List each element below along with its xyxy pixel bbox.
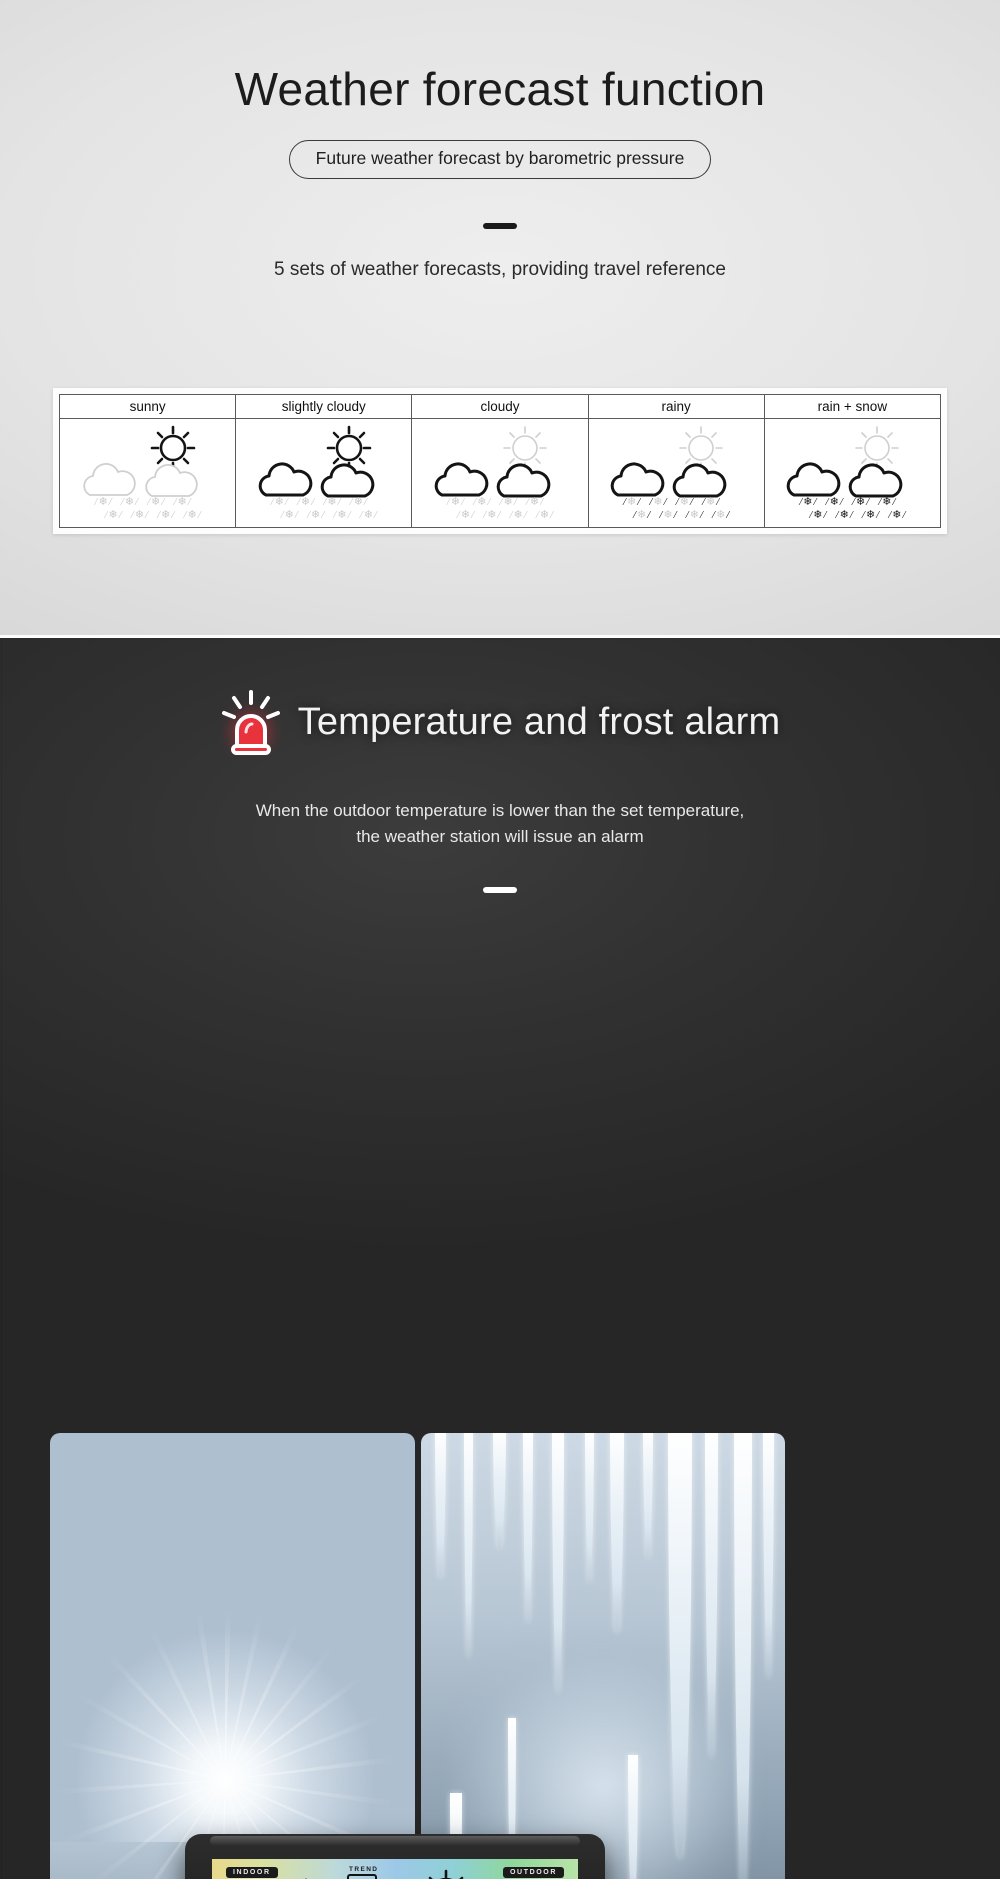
weather-icon-table-shell: sunny slightly cloudy cloudy rainy rain … bbox=[53, 388, 947, 534]
rain-dash-icon: / bbox=[664, 497, 667, 508]
subtitle-pill: Future weather forecast by barometric pr… bbox=[289, 140, 712, 179]
rain-dash-icon: / bbox=[690, 497, 693, 508]
icicle bbox=[628, 1755, 638, 1879]
table-header-row: sunny slightly cloudy cloudy rainy rain … bbox=[60, 395, 941, 419]
rain-dash-icon: / bbox=[550, 510, 553, 521]
precip-row: /❄//❄//❄//❄/ bbox=[271, 510, 377, 521]
precip-group: /❄/ bbox=[536, 510, 553, 521]
alarm-body: When the outdoor temperature is lower th… bbox=[0, 798, 1000, 849]
precip-group: /❄/ bbox=[157, 510, 174, 521]
lcd-main-area: INDOOR 26 .9 °C 60 % TREND bbox=[212, 1859, 578, 1879]
precipitation-icon: /❄//❄//❄//❄//❄//❄//❄//❄/ bbox=[94, 497, 200, 521]
photo-icicles bbox=[421, 1433, 786, 1879]
precip-group: /❄/ bbox=[121, 497, 138, 508]
rain-dash-icon: / bbox=[171, 510, 174, 521]
rain-dash-icon: / bbox=[131, 510, 134, 521]
snowflake-icon: ❄ bbox=[364, 510, 373, 521]
precip-group: /❄/ bbox=[297, 497, 314, 508]
precip-group: /❄/ bbox=[878, 497, 895, 508]
snowflake-icon: ❄ bbox=[813, 510, 822, 521]
snowflake-icon: ❄ bbox=[135, 510, 144, 521]
precip-row: /❄//❄//❄//❄/ bbox=[447, 497, 553, 508]
snowflake-icon: ❄ bbox=[487, 510, 496, 521]
snowflake-icon: ❄ bbox=[803, 497, 812, 508]
rain-dash-icon: / bbox=[540, 497, 543, 508]
rain-dash-icon: / bbox=[350, 497, 353, 508]
snowflake-icon: ❄ bbox=[178, 497, 187, 508]
precip-group: /❄/ bbox=[147, 497, 164, 508]
rain-dash-icon: / bbox=[311, 497, 314, 508]
weather-cell-slightly-cloudy: /❄//❄//❄//❄//❄//❄//❄//❄/ bbox=[236, 419, 412, 528]
rain-dash-icon: / bbox=[285, 497, 288, 508]
rain-dash-icon: / bbox=[813, 497, 816, 508]
precip-row: /❄//❄//❄//❄/ bbox=[271, 497, 377, 508]
snowflake-icon: ❄ bbox=[477, 497, 486, 508]
precip-group: /❄/ bbox=[281, 510, 298, 521]
rain-dash-icon: / bbox=[360, 510, 363, 521]
icicle bbox=[493, 1433, 506, 1549]
precip-group: /❄/ bbox=[131, 510, 148, 521]
rain-dash-icon: / bbox=[457, 510, 460, 521]
lcd-weather-picto-icon bbox=[380, 1867, 520, 1879]
col-header-rain-snow: rain + snow bbox=[764, 395, 940, 419]
trend-icon bbox=[347, 1874, 377, 1879]
precip-group: /❄/ bbox=[862, 510, 879, 521]
rain-dash-icon: / bbox=[676, 497, 679, 508]
col-header-sunny: sunny bbox=[60, 395, 236, 419]
alarm-section: Temperature and frost alarm When the out… bbox=[0, 638, 1000, 1879]
icicle bbox=[585, 1433, 594, 1584]
rain-dash-icon: / bbox=[473, 497, 476, 508]
precip-group: /❄/ bbox=[104, 510, 121, 521]
rain-dash-icon: / bbox=[271, 497, 274, 508]
rain-dash-icon: / bbox=[297, 497, 300, 508]
snowflake-icon: ❄ bbox=[125, 497, 134, 508]
icicle bbox=[464, 1433, 473, 1659]
divider-dash-white bbox=[483, 887, 517, 893]
rain-dash-icon: / bbox=[323, 497, 326, 508]
precip-group: /❄/ bbox=[852, 497, 869, 508]
rain-dash-icon: / bbox=[686, 510, 689, 521]
rain-dash-icon: / bbox=[799, 497, 802, 508]
rain-dash-icon: / bbox=[509, 510, 512, 521]
rain-dash-icon: / bbox=[647, 510, 650, 521]
precip-group: /❄/ bbox=[623, 497, 640, 508]
snowflake-icon: ❄ bbox=[275, 497, 284, 508]
precip-group: /❄/ bbox=[826, 497, 843, 508]
snowflake-icon: ❄ bbox=[188, 510, 197, 521]
snowflake-icon: ❄ bbox=[892, 510, 901, 521]
rain-dash-icon: / bbox=[188, 497, 191, 508]
precip-group: /❄/ bbox=[712, 510, 729, 521]
icicle bbox=[435, 1433, 446, 1579]
precipitation-icon: /❄//❄//❄//❄//❄//❄//❄//❄/ bbox=[799, 497, 905, 521]
col-header-rainy: rainy bbox=[588, 395, 764, 419]
rain-dash-icon: / bbox=[674, 510, 677, 521]
indoor-label: INDOOR bbox=[226, 1867, 278, 1878]
rain-dash-icon: / bbox=[135, 497, 138, 508]
col-header-cloudy: cloudy bbox=[412, 395, 588, 419]
rain-dash-icon: / bbox=[903, 510, 906, 521]
icicle bbox=[523, 1433, 533, 1624]
precip-group: /❄/ bbox=[799, 497, 816, 508]
precip-group: /❄/ bbox=[183, 510, 200, 521]
precip-group: /❄/ bbox=[676, 497, 693, 508]
rain-dash-icon: / bbox=[702, 497, 705, 508]
snowflake-icon: ❄ bbox=[653, 497, 662, 508]
rain-dash-icon: / bbox=[471, 510, 474, 521]
rain-dash-icon: / bbox=[307, 510, 310, 521]
snowflake-icon: ❄ bbox=[690, 510, 699, 521]
rain-dash-icon: / bbox=[878, 497, 881, 508]
snowflake-icon: ❄ bbox=[637, 510, 646, 521]
rain-dash-icon: / bbox=[649, 497, 652, 508]
precip-group: /❄/ bbox=[323, 497, 340, 508]
alarm-siren-icon bbox=[220, 688, 282, 756]
rain-dash-icon: / bbox=[637, 497, 640, 508]
rain-dash-icon: / bbox=[700, 510, 703, 521]
rain-dash-icon: / bbox=[623, 497, 626, 508]
rain-dash-icon: / bbox=[94, 497, 97, 508]
precip-row: /❄//❄//❄//❄/ bbox=[94, 510, 200, 521]
trend-label: TREND bbox=[349, 1866, 378, 1873]
precip-group: /❄/ bbox=[333, 510, 350, 521]
outdoor-label: OUTDOOR bbox=[503, 1867, 564, 1878]
rain-dash-icon: / bbox=[173, 497, 176, 508]
snowflake-icon: ❄ bbox=[840, 510, 849, 521]
rain-dash-icon: / bbox=[633, 510, 636, 521]
rain-dash-icon: / bbox=[104, 510, 107, 521]
rain-dash-icon: / bbox=[109, 497, 112, 508]
snowflake-icon: ❄ bbox=[706, 497, 715, 508]
rain-dash-icon: / bbox=[526, 497, 529, 508]
precip-group: /❄/ bbox=[509, 510, 526, 521]
rain-dash-icon: / bbox=[852, 497, 855, 508]
precip-row: /❄//❄//❄//❄/ bbox=[447, 510, 553, 521]
precipitation-icon: /❄//❄//❄//❄//❄//❄//❄//❄/ bbox=[623, 497, 729, 521]
weather-cell-cloudy: /❄//❄//❄//❄//❄//❄//❄//❄/ bbox=[412, 419, 588, 528]
rain-dash-icon: / bbox=[809, 510, 812, 521]
snowflake-icon: ❄ bbox=[311, 510, 320, 521]
rain-dash-icon: / bbox=[333, 510, 336, 521]
precip-group: /❄/ bbox=[360, 510, 377, 521]
rain-dash-icon: / bbox=[145, 510, 148, 521]
precip-row: /❄//❄//❄//❄/ bbox=[623, 510, 729, 521]
col-header-slightly-cloudy: slightly cloudy bbox=[236, 395, 412, 419]
subtitle-pill-wrap: Future weather forecast by barometric pr… bbox=[0, 140, 1000, 179]
rain-dash-icon: / bbox=[447, 497, 450, 508]
rain-dash-icon: / bbox=[659, 510, 662, 521]
precip-group: /❄/ bbox=[888, 510, 905, 521]
alarm-header: Temperature and frost alarm bbox=[0, 638, 1000, 756]
snowflake-icon: ❄ bbox=[151, 497, 160, 508]
snowflake-icon: ❄ bbox=[856, 497, 865, 508]
precip-group: /❄/ bbox=[649, 497, 666, 508]
rain-dash-icon: / bbox=[499, 497, 502, 508]
rain-dash-icon: / bbox=[514, 497, 517, 508]
precip-group: /❄/ bbox=[702, 497, 719, 508]
precip-group: /❄/ bbox=[457, 510, 474, 521]
alarm-body-line-1: When the outdoor temperature is lower th… bbox=[0, 798, 1000, 824]
rain-dash-icon: / bbox=[147, 497, 150, 508]
precip-group: /❄/ bbox=[350, 497, 367, 508]
snowflake-icon: ❄ bbox=[514, 510, 523, 521]
rain-dash-icon: / bbox=[823, 510, 826, 521]
snowflake-icon: ❄ bbox=[451, 497, 460, 508]
rain-dash-icon: / bbox=[497, 510, 500, 521]
weather-cell-rain-snow: /❄//❄//❄//❄//❄//❄//❄//❄/ bbox=[764, 419, 940, 528]
rain-dash-icon: / bbox=[161, 497, 164, 508]
forecast-subtitle: 5 sets of weather forecasts, providing t… bbox=[0, 259, 1000, 281]
rain-dash-icon: / bbox=[198, 510, 201, 521]
icicle bbox=[643, 1433, 653, 1559]
rain-dash-icon: / bbox=[826, 497, 829, 508]
rain-dash-icon: / bbox=[157, 510, 160, 521]
snowflake-icon: ❄ bbox=[540, 510, 549, 521]
snowflake-icon: ❄ bbox=[161, 510, 170, 521]
precip-group: /❄/ bbox=[94, 497, 111, 508]
rain-dash-icon: / bbox=[862, 510, 865, 521]
rain-dash-icon: / bbox=[726, 510, 729, 521]
precip-group: /❄/ bbox=[809, 510, 826, 521]
rain-dash-icon: / bbox=[888, 510, 891, 521]
precip-row: /❄//❄//❄//❄/ bbox=[94, 497, 200, 508]
rain-dash-icon: / bbox=[524, 510, 527, 521]
snowflake-icon: ❄ bbox=[108, 510, 117, 521]
snowflake-icon: ❄ bbox=[866, 510, 875, 521]
rain-dash-icon: / bbox=[536, 510, 539, 521]
precip-row: /❄//❄//❄//❄/ bbox=[799, 510, 905, 521]
precip-group: /❄/ bbox=[659, 510, 676, 521]
forecast-section: Weather forecast function Future weather… bbox=[0, 0, 1000, 638]
snowflake-icon: ❄ bbox=[354, 497, 363, 508]
weather-icon-table: sunny slightly cloudy cloudy rainy rain … bbox=[59, 394, 941, 528]
snowflake-icon: ❄ bbox=[716, 510, 725, 521]
snowflake-icon: ❄ bbox=[882, 497, 891, 508]
precip-group: /❄/ bbox=[633, 510, 650, 521]
rain-dash-icon: / bbox=[840, 497, 843, 508]
precip-group: /❄/ bbox=[307, 510, 324, 521]
rain-dash-icon: / bbox=[183, 510, 186, 521]
precipitation-icon: /❄//❄//❄//❄//❄//❄//❄//❄/ bbox=[447, 497, 553, 521]
precip-row: /❄//❄//❄//❄/ bbox=[623, 497, 729, 508]
table-icon-row: /❄//❄//❄//❄//❄//❄//❄//❄/ /❄//❄//❄//❄//❄/… bbox=[60, 419, 941, 528]
lcd-screen: INDOOR 26 .9 °C 60 % TREND bbox=[212, 1859, 578, 1879]
icicle bbox=[763, 1433, 774, 1679]
rain-dash-icon: / bbox=[321, 510, 324, 521]
photo-sun-over-sea bbox=[50, 1433, 415, 1879]
precip-group: /❄/ bbox=[499, 497, 516, 508]
rain-dash-icon: / bbox=[374, 510, 377, 521]
rain-dash-icon: / bbox=[876, 510, 879, 521]
weather-station-device: INDOOR 26 .9 °C 60 % TREND bbox=[185, 1834, 605, 1879]
snowflake-icon: ❄ bbox=[301, 497, 310, 508]
rain-dash-icon: / bbox=[893, 497, 896, 508]
snowflake-icon: ❄ bbox=[285, 510, 294, 521]
precip-group: /❄/ bbox=[526, 497, 543, 508]
rain-dash-icon: / bbox=[119, 510, 122, 521]
rain-dash-icon: / bbox=[295, 510, 298, 521]
rain-dash-icon: / bbox=[461, 497, 464, 508]
snowflake-icon: ❄ bbox=[627, 497, 636, 508]
rain-dash-icon: / bbox=[850, 510, 853, 521]
precip-row: /❄//❄//❄//❄/ bbox=[799, 497, 905, 508]
rain-dash-icon: / bbox=[716, 497, 719, 508]
precip-group: /❄/ bbox=[271, 497, 288, 508]
snowflake-icon: ❄ bbox=[504, 497, 513, 508]
precip-group: /❄/ bbox=[447, 497, 464, 508]
precip-group: /❄/ bbox=[483, 510, 500, 521]
rain-dash-icon: / bbox=[836, 510, 839, 521]
snowflake-icon: ❄ bbox=[830, 497, 839, 508]
rain-dash-icon: / bbox=[121, 497, 124, 508]
snowflake-icon: ❄ bbox=[98, 497, 107, 508]
photo-pair bbox=[50, 1433, 785, 1879]
snowflake-icon: ❄ bbox=[327, 497, 336, 508]
weather-cell-rainy: /❄//❄//❄//❄//❄//❄//❄//❄/ bbox=[588, 419, 764, 528]
precip-group: /❄/ bbox=[686, 510, 703, 521]
alarm-body-line-2: the weather station will issue an alarm bbox=[0, 824, 1000, 850]
precip-group: /❄/ bbox=[173, 497, 190, 508]
precip-group: /❄/ bbox=[836, 510, 853, 521]
snowflake-icon: ❄ bbox=[530, 497, 539, 508]
page-title: Weather forecast function bbox=[0, 0, 1000, 115]
device-top-sheen bbox=[210, 1836, 580, 1846]
divider-dash bbox=[483, 223, 517, 229]
icicle bbox=[610, 1433, 624, 1634]
rain-dash-icon: / bbox=[487, 497, 490, 508]
rain-dash-icon: / bbox=[281, 510, 284, 521]
precip-group: /❄/ bbox=[473, 497, 490, 508]
weather-cell-sunny: /❄//❄//❄//❄//❄//❄//❄//❄/ bbox=[60, 419, 236, 528]
snowflake-icon: ❄ bbox=[680, 497, 689, 508]
rain-dash-icon: / bbox=[483, 510, 486, 521]
rain-dash-icon: / bbox=[338, 497, 341, 508]
precipitation-icon: /❄//❄//❄//❄//❄//❄//❄//❄/ bbox=[271, 497, 377, 521]
snowflake-icon: ❄ bbox=[663, 510, 672, 521]
rain-dash-icon: / bbox=[364, 497, 367, 508]
rain-dash-icon: / bbox=[712, 510, 715, 521]
snowflake-icon: ❄ bbox=[461, 510, 470, 521]
rain-dash-icon: / bbox=[348, 510, 351, 521]
alarm-title: Temperature and frost alarm bbox=[298, 701, 781, 744]
snowflake-icon: ❄ bbox=[337, 510, 346, 521]
rain-dash-icon: / bbox=[866, 497, 869, 508]
